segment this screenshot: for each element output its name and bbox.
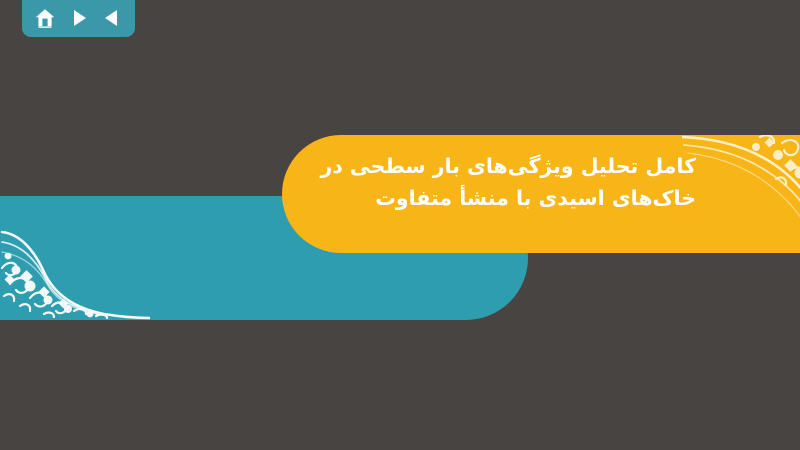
slide-title: کامل تحلیل ویژگی‌های بار سطحی در خاک‌های… (336, 151, 696, 215)
previous-slide-button[interactable] (100, 6, 124, 30)
next-slide-button[interactable] (67, 6, 91, 30)
home-icon (34, 7, 56, 29)
arabesque-corner-ornament-orange (682, 135, 800, 253)
title-line-1: کامل تحلیل ویژگی‌های بار سطحی در (336, 151, 696, 183)
title-line-2: خاک‌های اسیدی با منشأ متفاوت (336, 183, 696, 215)
arabesque-corner-ornament-teal (0, 210, 150, 320)
home-button[interactable] (33, 6, 57, 30)
navigation-bar (22, 0, 135, 37)
title-banner: کامل تحلیل ویژگی‌های بار سطحی در خاک‌های… (282, 135, 800, 253)
slide-canvas: کامل تحلیل ویژگی‌های بار سطحی در خاک‌های… (0, 0, 800, 450)
triangle-left-icon (102, 8, 122, 28)
triangle-right-icon (69, 8, 89, 28)
